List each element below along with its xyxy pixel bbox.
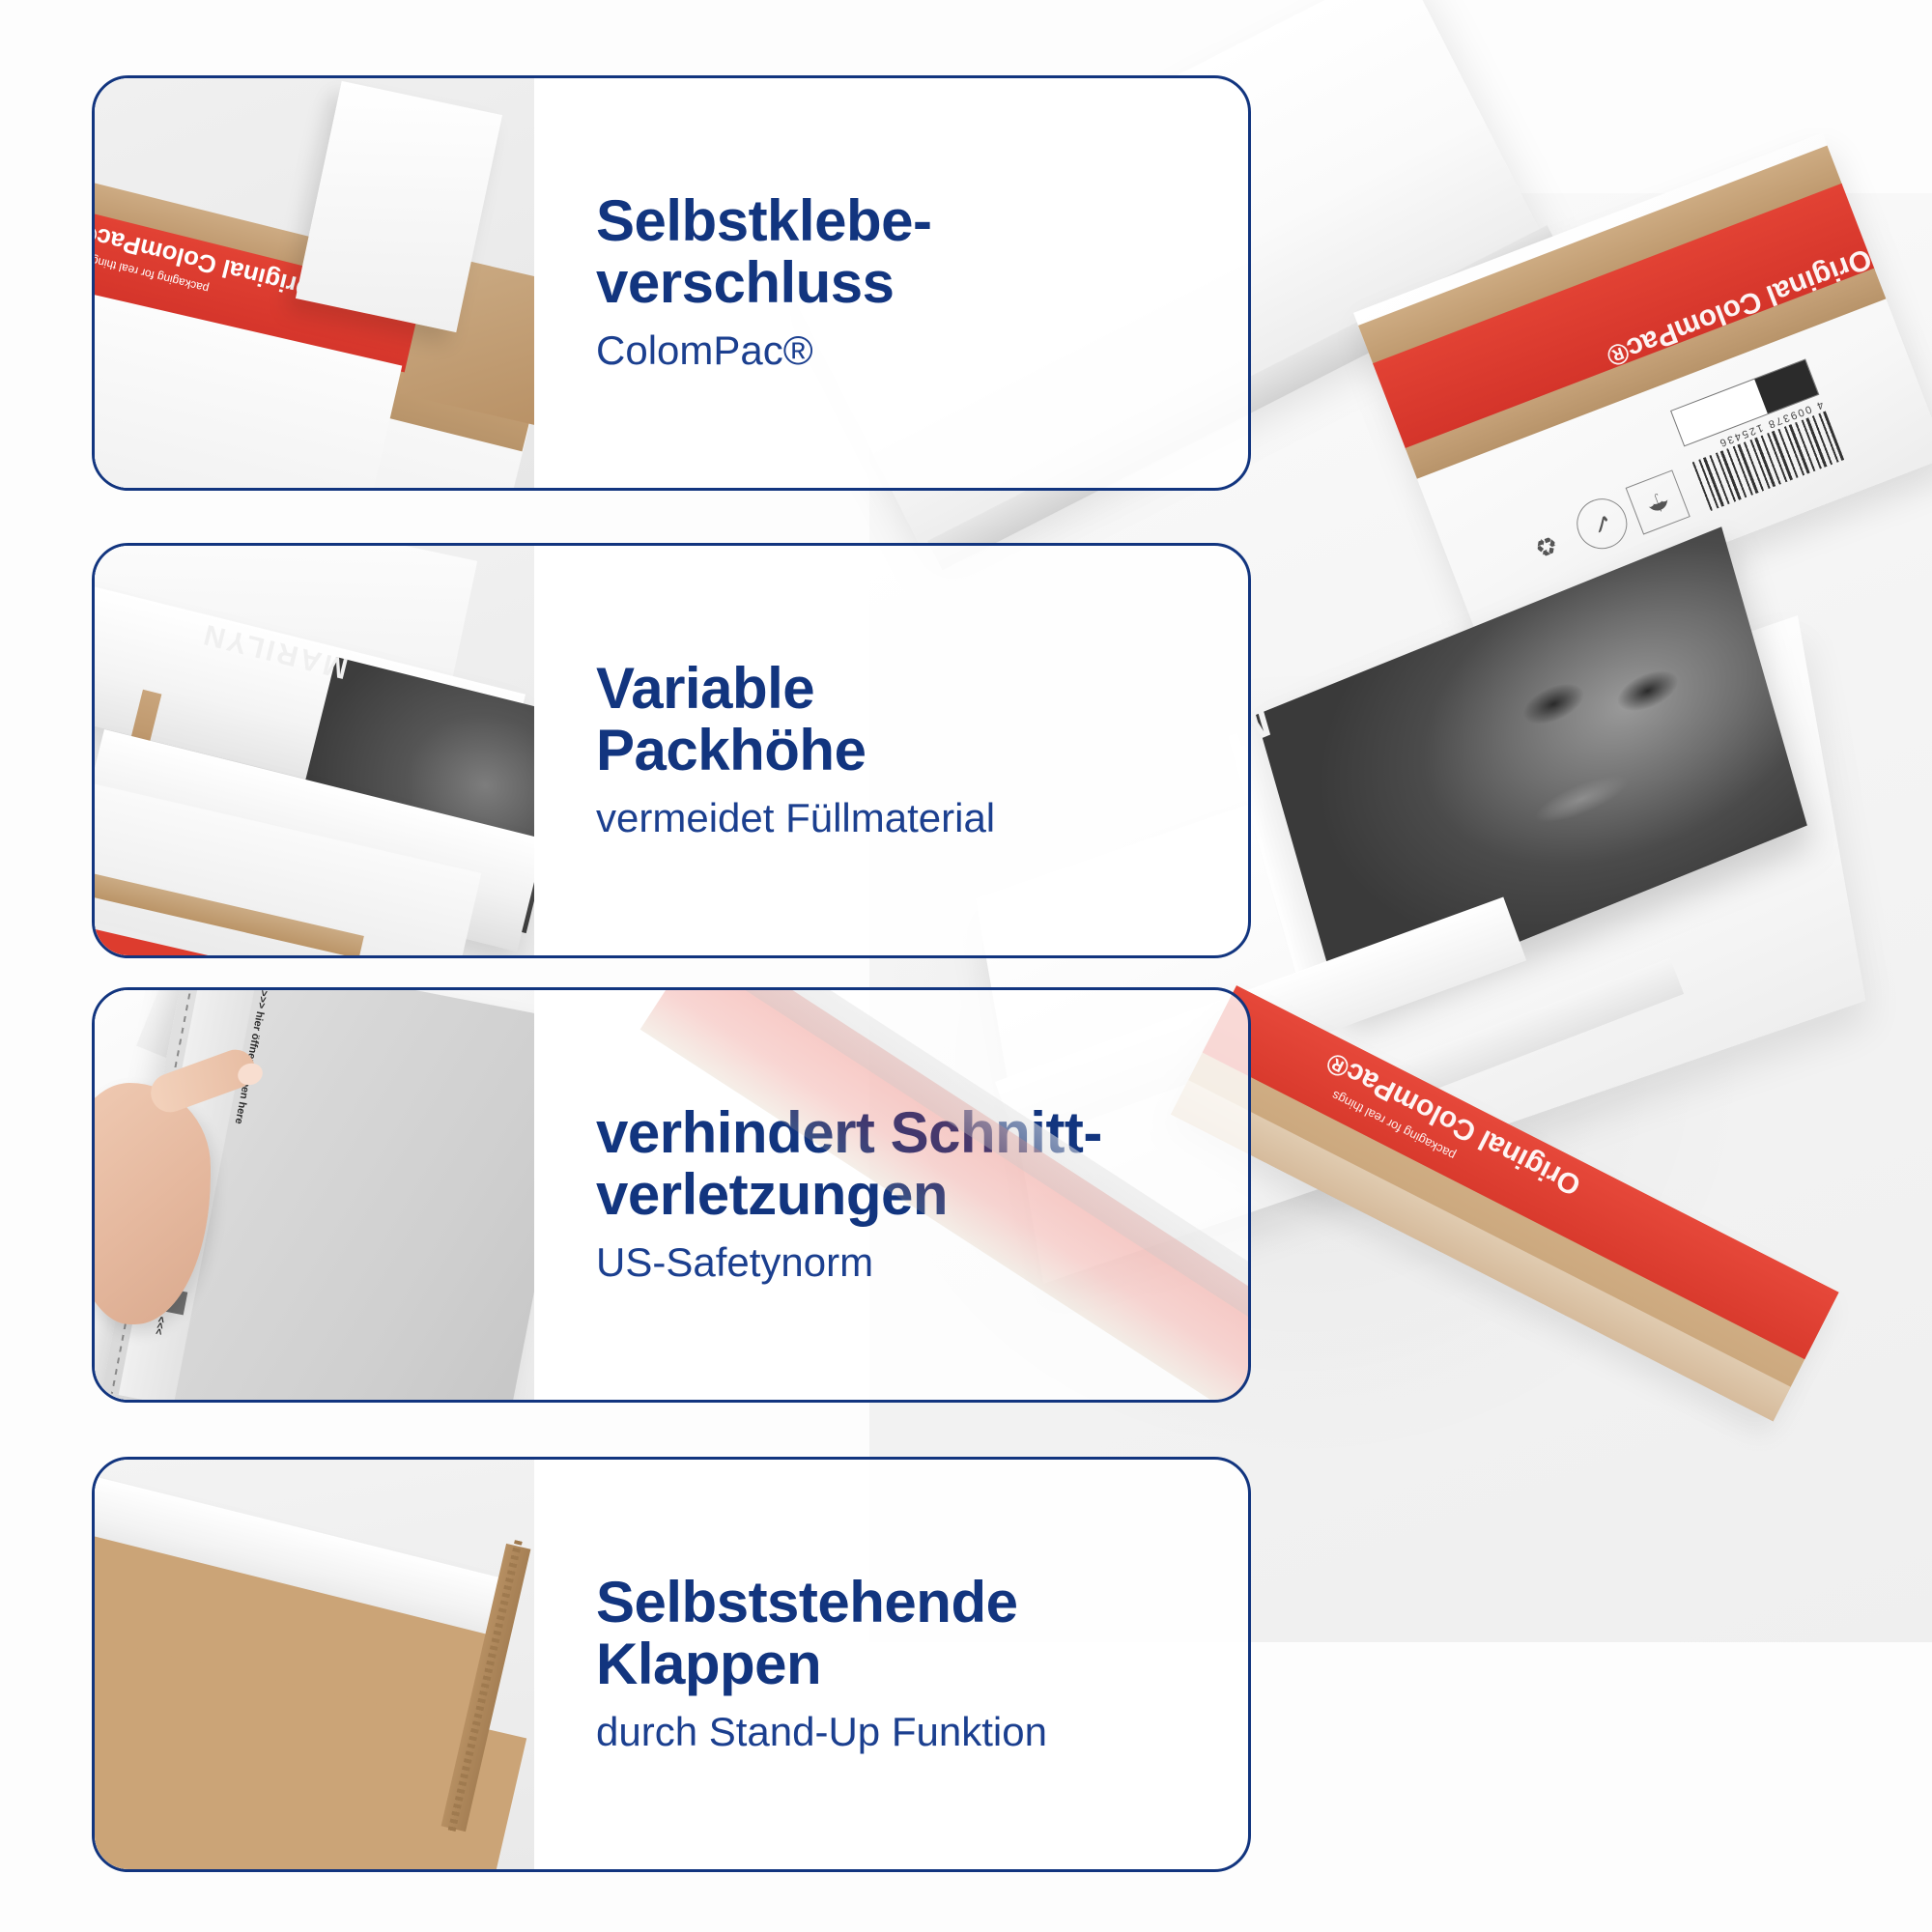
no-cut-injuries-photo: >>> hier öffnen / open here hier öffnen … xyxy=(95,990,534,1400)
fsc-icon: ✓ xyxy=(1570,492,1634,556)
stand-up-flaps-photo xyxy=(95,1460,534,1869)
variable-pack-height-photo: MARILYN xyxy=(95,546,534,955)
card-text-block: Selbststehende Klappen durch Stand-Up Fu… xyxy=(534,1460,1248,1869)
card-subtitle: US-Safetynorm xyxy=(596,1238,1209,1287)
card-text-block: verhindert Schnitt- verletzungen US-Safe… xyxy=(534,990,1248,1400)
card-text-block: Selbstklebe- verschluss ColomPac® xyxy=(534,78,1248,488)
card-title: verhindert Schnitt- verletzungen xyxy=(596,1102,1209,1225)
card-subtitle: vermeidet Füllmaterial xyxy=(596,794,1209,842)
card-subtitle: durch Stand-Up Funktion xyxy=(596,1708,1209,1756)
moisture-icon: ☂ xyxy=(1626,469,1690,534)
book-cover-face-detail xyxy=(1613,663,1682,719)
card-subtitle: ColomPac® xyxy=(596,327,1209,375)
recycle-icon: ♻ xyxy=(1514,513,1578,578)
feature-card-variable-pack-height[interactable]: MARILYN Variable Packhöhe vermeidet Füll… xyxy=(92,543,1251,958)
card-text-block: Variable Packhöhe vermeidet Füllmaterial xyxy=(534,546,1248,955)
feature-card-no-cut-injuries[interactable]: >>> hier öffnen / open here hier öffnen … xyxy=(92,987,1251,1403)
card-title: Selbststehende Klappen xyxy=(596,1572,1209,1694)
card-title: Selbstklebe- verschluss xyxy=(596,190,1209,313)
card-title: Variable Packhöhe xyxy=(596,658,1209,781)
feature-card-stand-up-flaps[interactable]: Selbststehende Klappen durch Stand-Up Fu… xyxy=(92,1457,1251,1872)
book-cover-face-detail xyxy=(1520,676,1588,732)
self-adhesive-closure-photo: Original ColomPac® packaging for real th… xyxy=(95,78,534,488)
infographic-canvas: Original ColomPac® packaging for real th… xyxy=(0,0,1932,1932)
feature-card-self-adhesive-closure[interactable]: Original ColomPac® packaging for real th… xyxy=(92,75,1251,491)
book-cover-face-detail xyxy=(1531,766,1633,832)
